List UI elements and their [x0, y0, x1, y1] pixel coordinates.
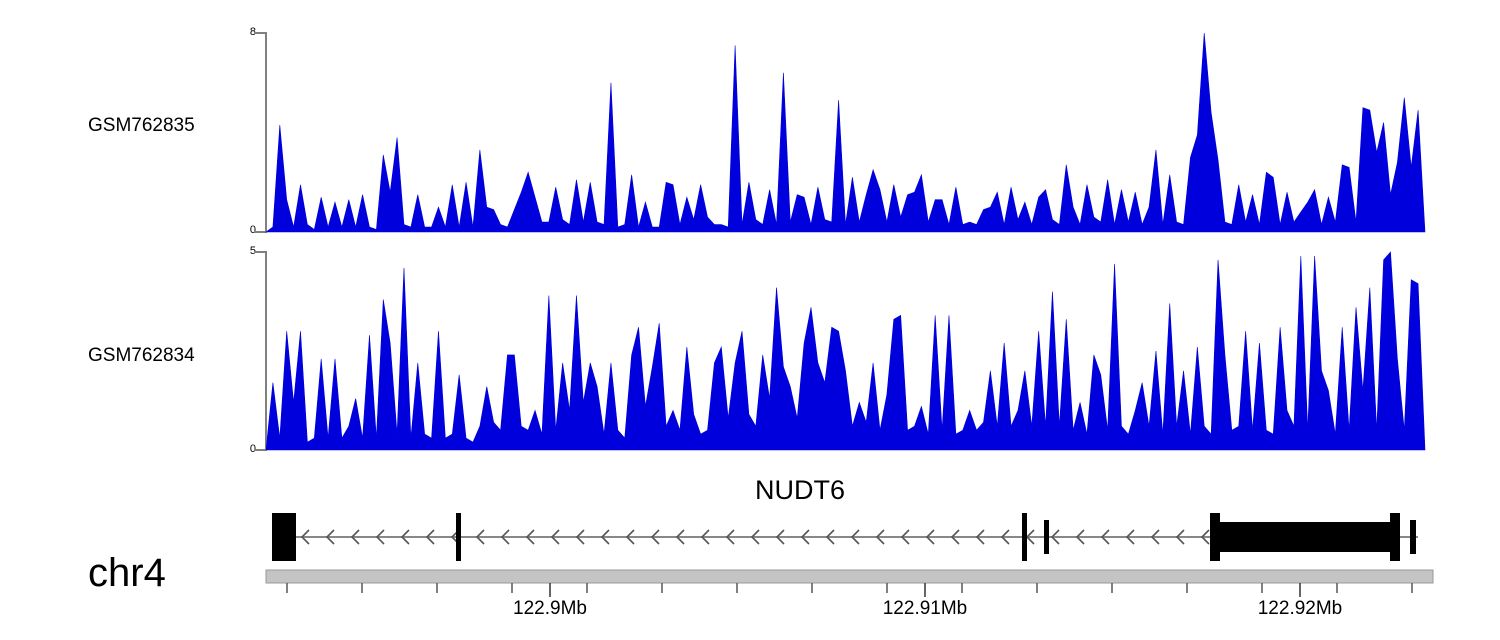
axis-tick-label: 122.91Mb: [883, 598, 968, 620]
track1-plot: [0, 0, 1500, 240]
signal-track-gsm762834: GSM762834 5 0: [0, 240, 1500, 465]
axis-tick-label: 122.92Mb: [1258, 598, 1343, 620]
axis-tick-label: 122.9Mb: [513, 598, 587, 620]
genome-browser: GSM762835 8 0 GSM762834 5 0 NUDT6 chr4 1…: [0, 0, 1500, 640]
signal-track-gsm762835: GSM762835 8 0: [0, 0, 1500, 240]
gene-annotation-track: NUDT6 chr4 122.9Mb122.91Mb122.92Mb: [0, 465, 1500, 640]
track2-plot: [0, 240, 1500, 465]
